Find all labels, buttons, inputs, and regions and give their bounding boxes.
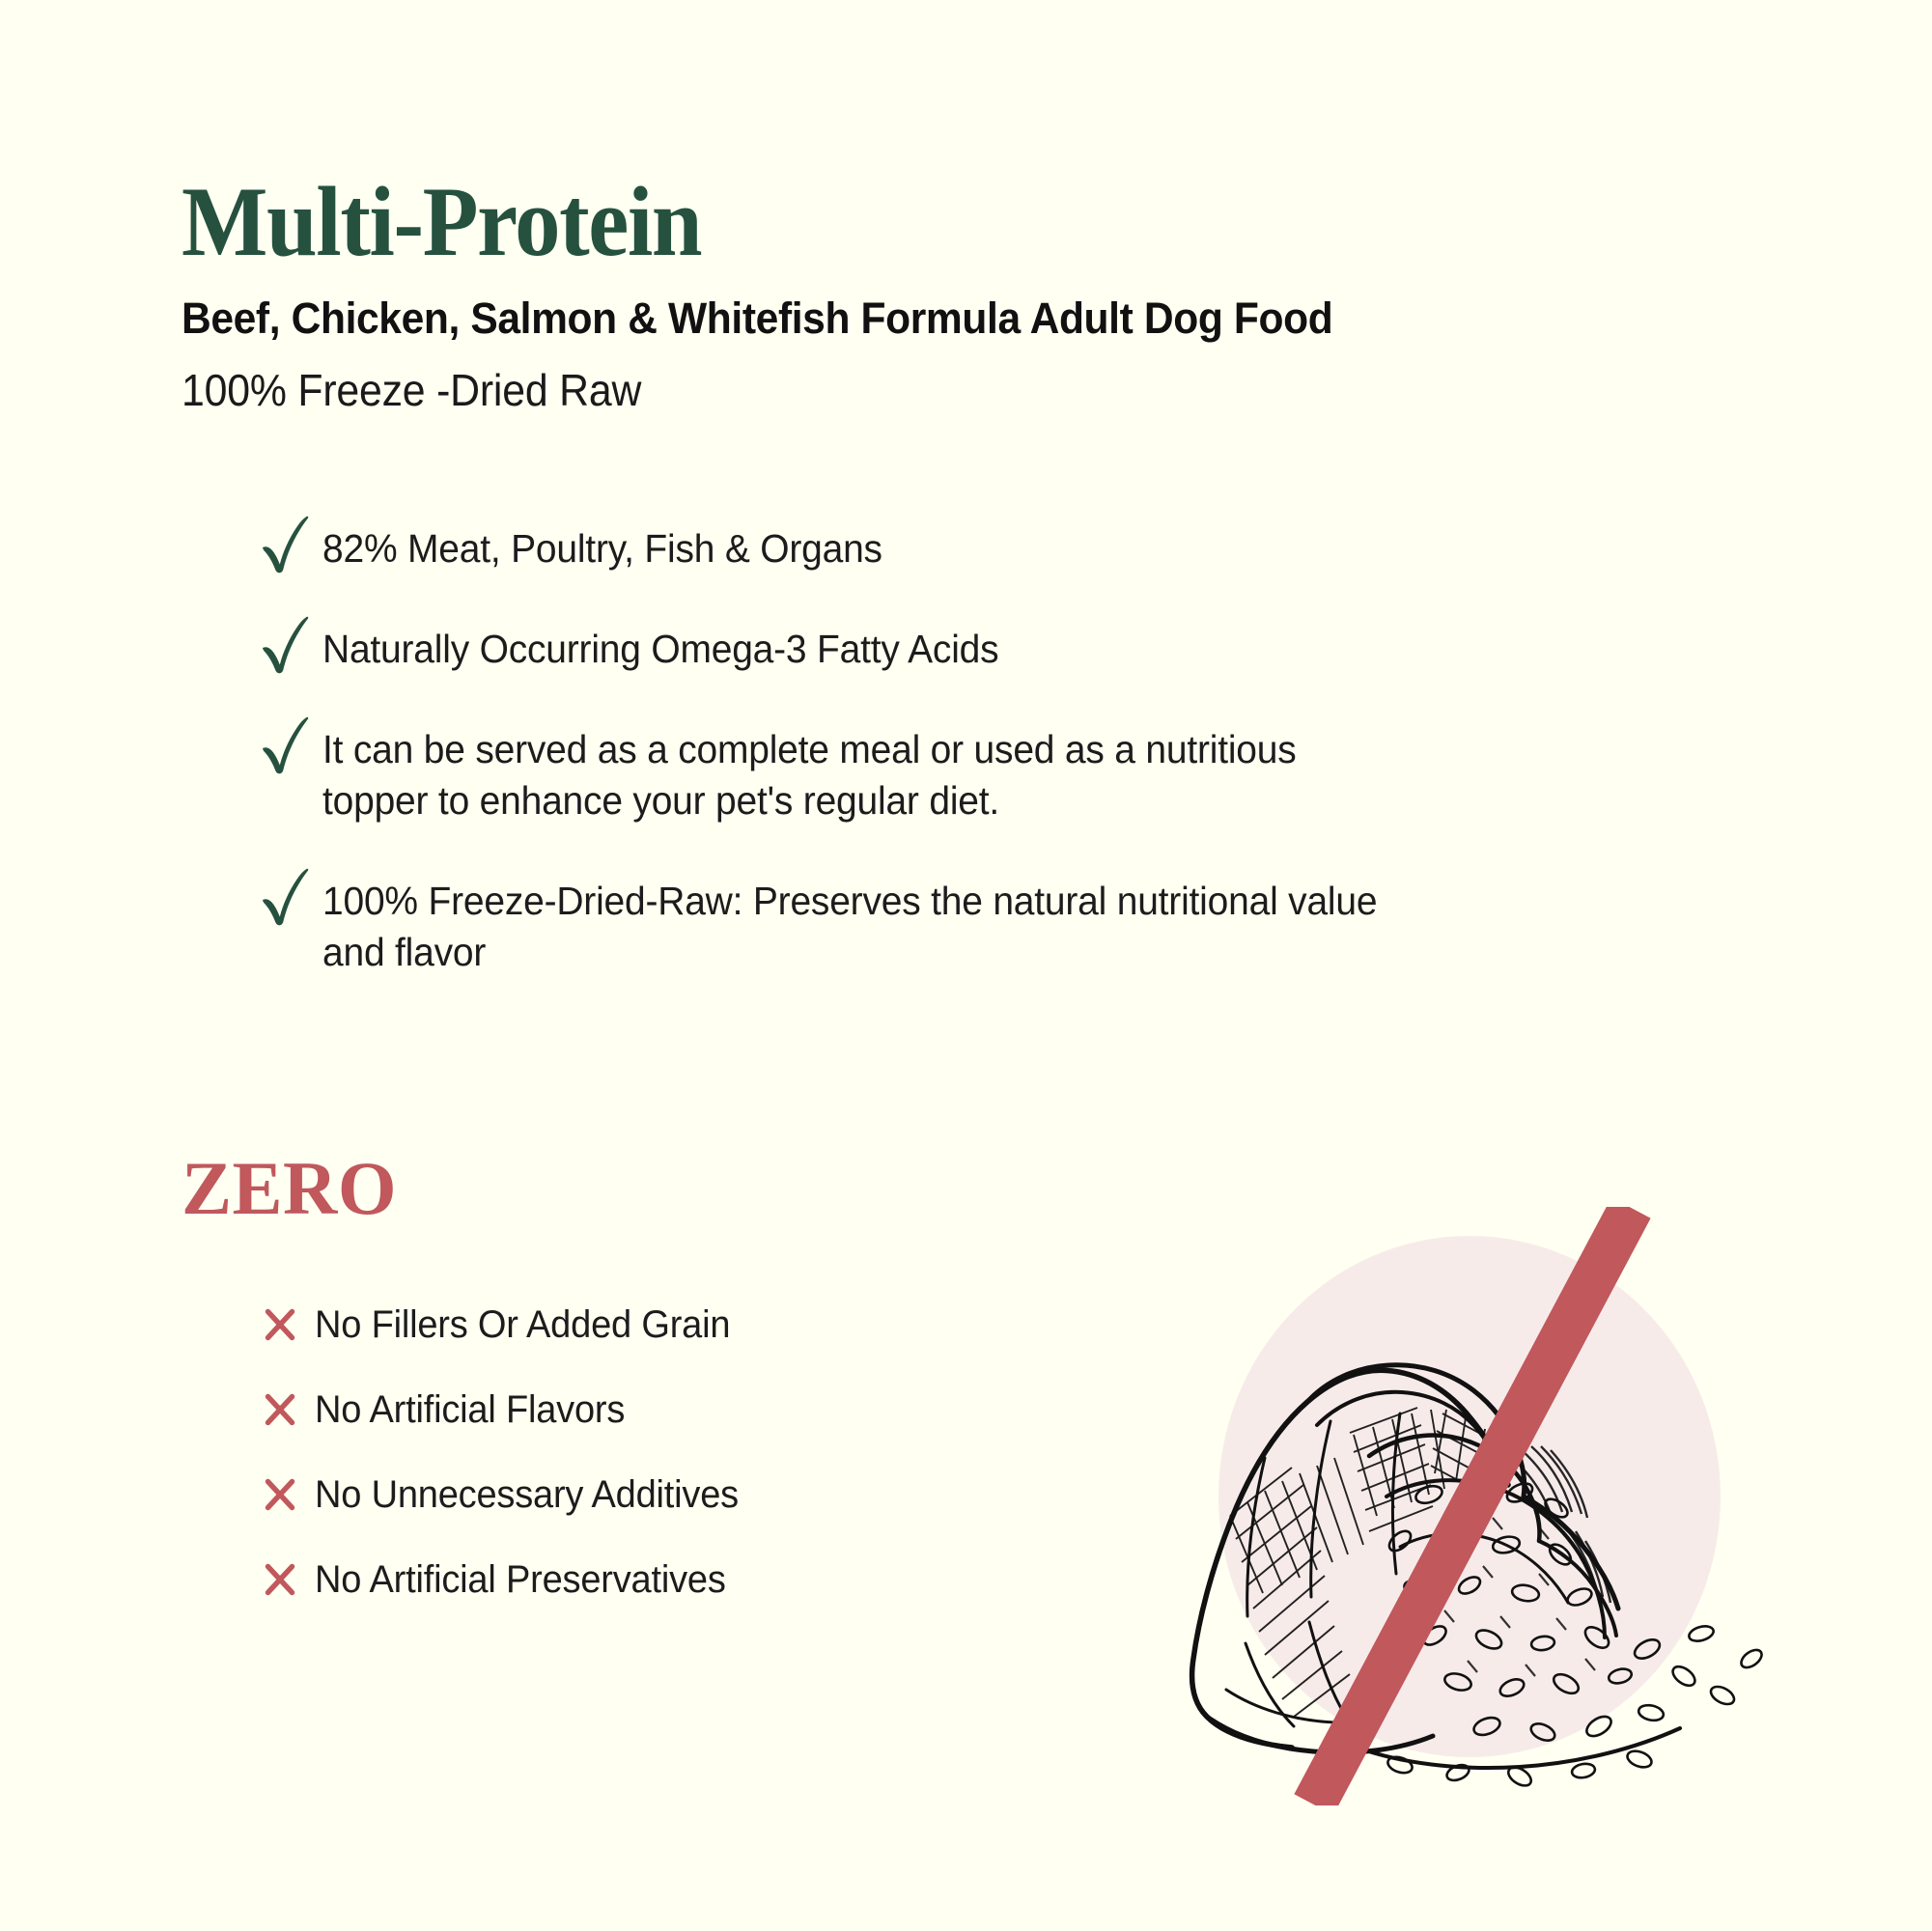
list-item: 82% Meat, Poultry, Fish & Organs: [259, 521, 1726, 575]
zero-section-heading: ZERO: [182, 1151, 397, 1226]
list-item: No Fillers Or Added Grain: [263, 1301, 1190, 1348]
zero-text: No Artificial Preservatives: [315, 1556, 726, 1603]
check-icon: [259, 516, 311, 575]
product-subtitle: Beef, Chicken, Salmon & Whitefish Formul…: [182, 293, 1626, 345]
header-block: Multi-Protein Beef, Chicken, Salmon & Wh…: [182, 172, 1726, 416]
cross-icon: [263, 1477, 297, 1512]
benefit-text: It can be served as a complete meal or u…: [322, 722, 1297, 827]
cross-icon: [263, 1392, 297, 1427]
list-item: No Artificial Preservatives: [263, 1556, 1190, 1603]
infographic-page: Multi-Protein Beef, Chicken, Salmon & Wh…: [0, 0, 1932, 1931]
cross-icon: [263, 1307, 297, 1342]
check-icon: [259, 716, 311, 776]
no-grain-sack-illustration: [1110, 1207, 1825, 1805]
check-icon: [259, 868, 311, 928]
benefit-text: 100% Freeze-Dried-Raw: Preserves the nat…: [322, 874, 1377, 979]
list-item: No Artificial Flavors: [263, 1386, 1190, 1433]
list-item: Naturally Occurring Omega-3 Fatty Acids: [259, 622, 1726, 676]
page-title: Multi-Protein: [182, 172, 1603, 273]
benefit-text: Naturally Occurring Omega-3 Fatty Acids: [322, 622, 998, 675]
list-item: 100% Freeze-Dried-Raw: Preserves the nat…: [259, 874, 1726, 979]
list-item: It can be served as a complete meal or u…: [259, 722, 1726, 827]
check-icon: [259, 616, 311, 676]
zero-list: No Fillers Or Added Grain No Artificial …: [263, 1301, 1190, 1603]
list-item: No Unnecessary Additives: [263, 1471, 1190, 1518]
product-tagline: 100% Freeze -Dried Raw: [182, 364, 1618, 416]
benefits-list: 82% Meat, Poultry, Fish & Organs Natural…: [259, 521, 1726, 978]
zero-text: No Fillers Or Added Grain: [315, 1301, 730, 1348]
zero-text: No Artificial Flavors: [315, 1386, 625, 1433]
cross-icon: [263, 1562, 297, 1597]
benefit-text: 82% Meat, Poultry, Fish & Organs: [322, 521, 882, 574]
zero-text: No Unnecessary Additives: [315, 1471, 739, 1518]
